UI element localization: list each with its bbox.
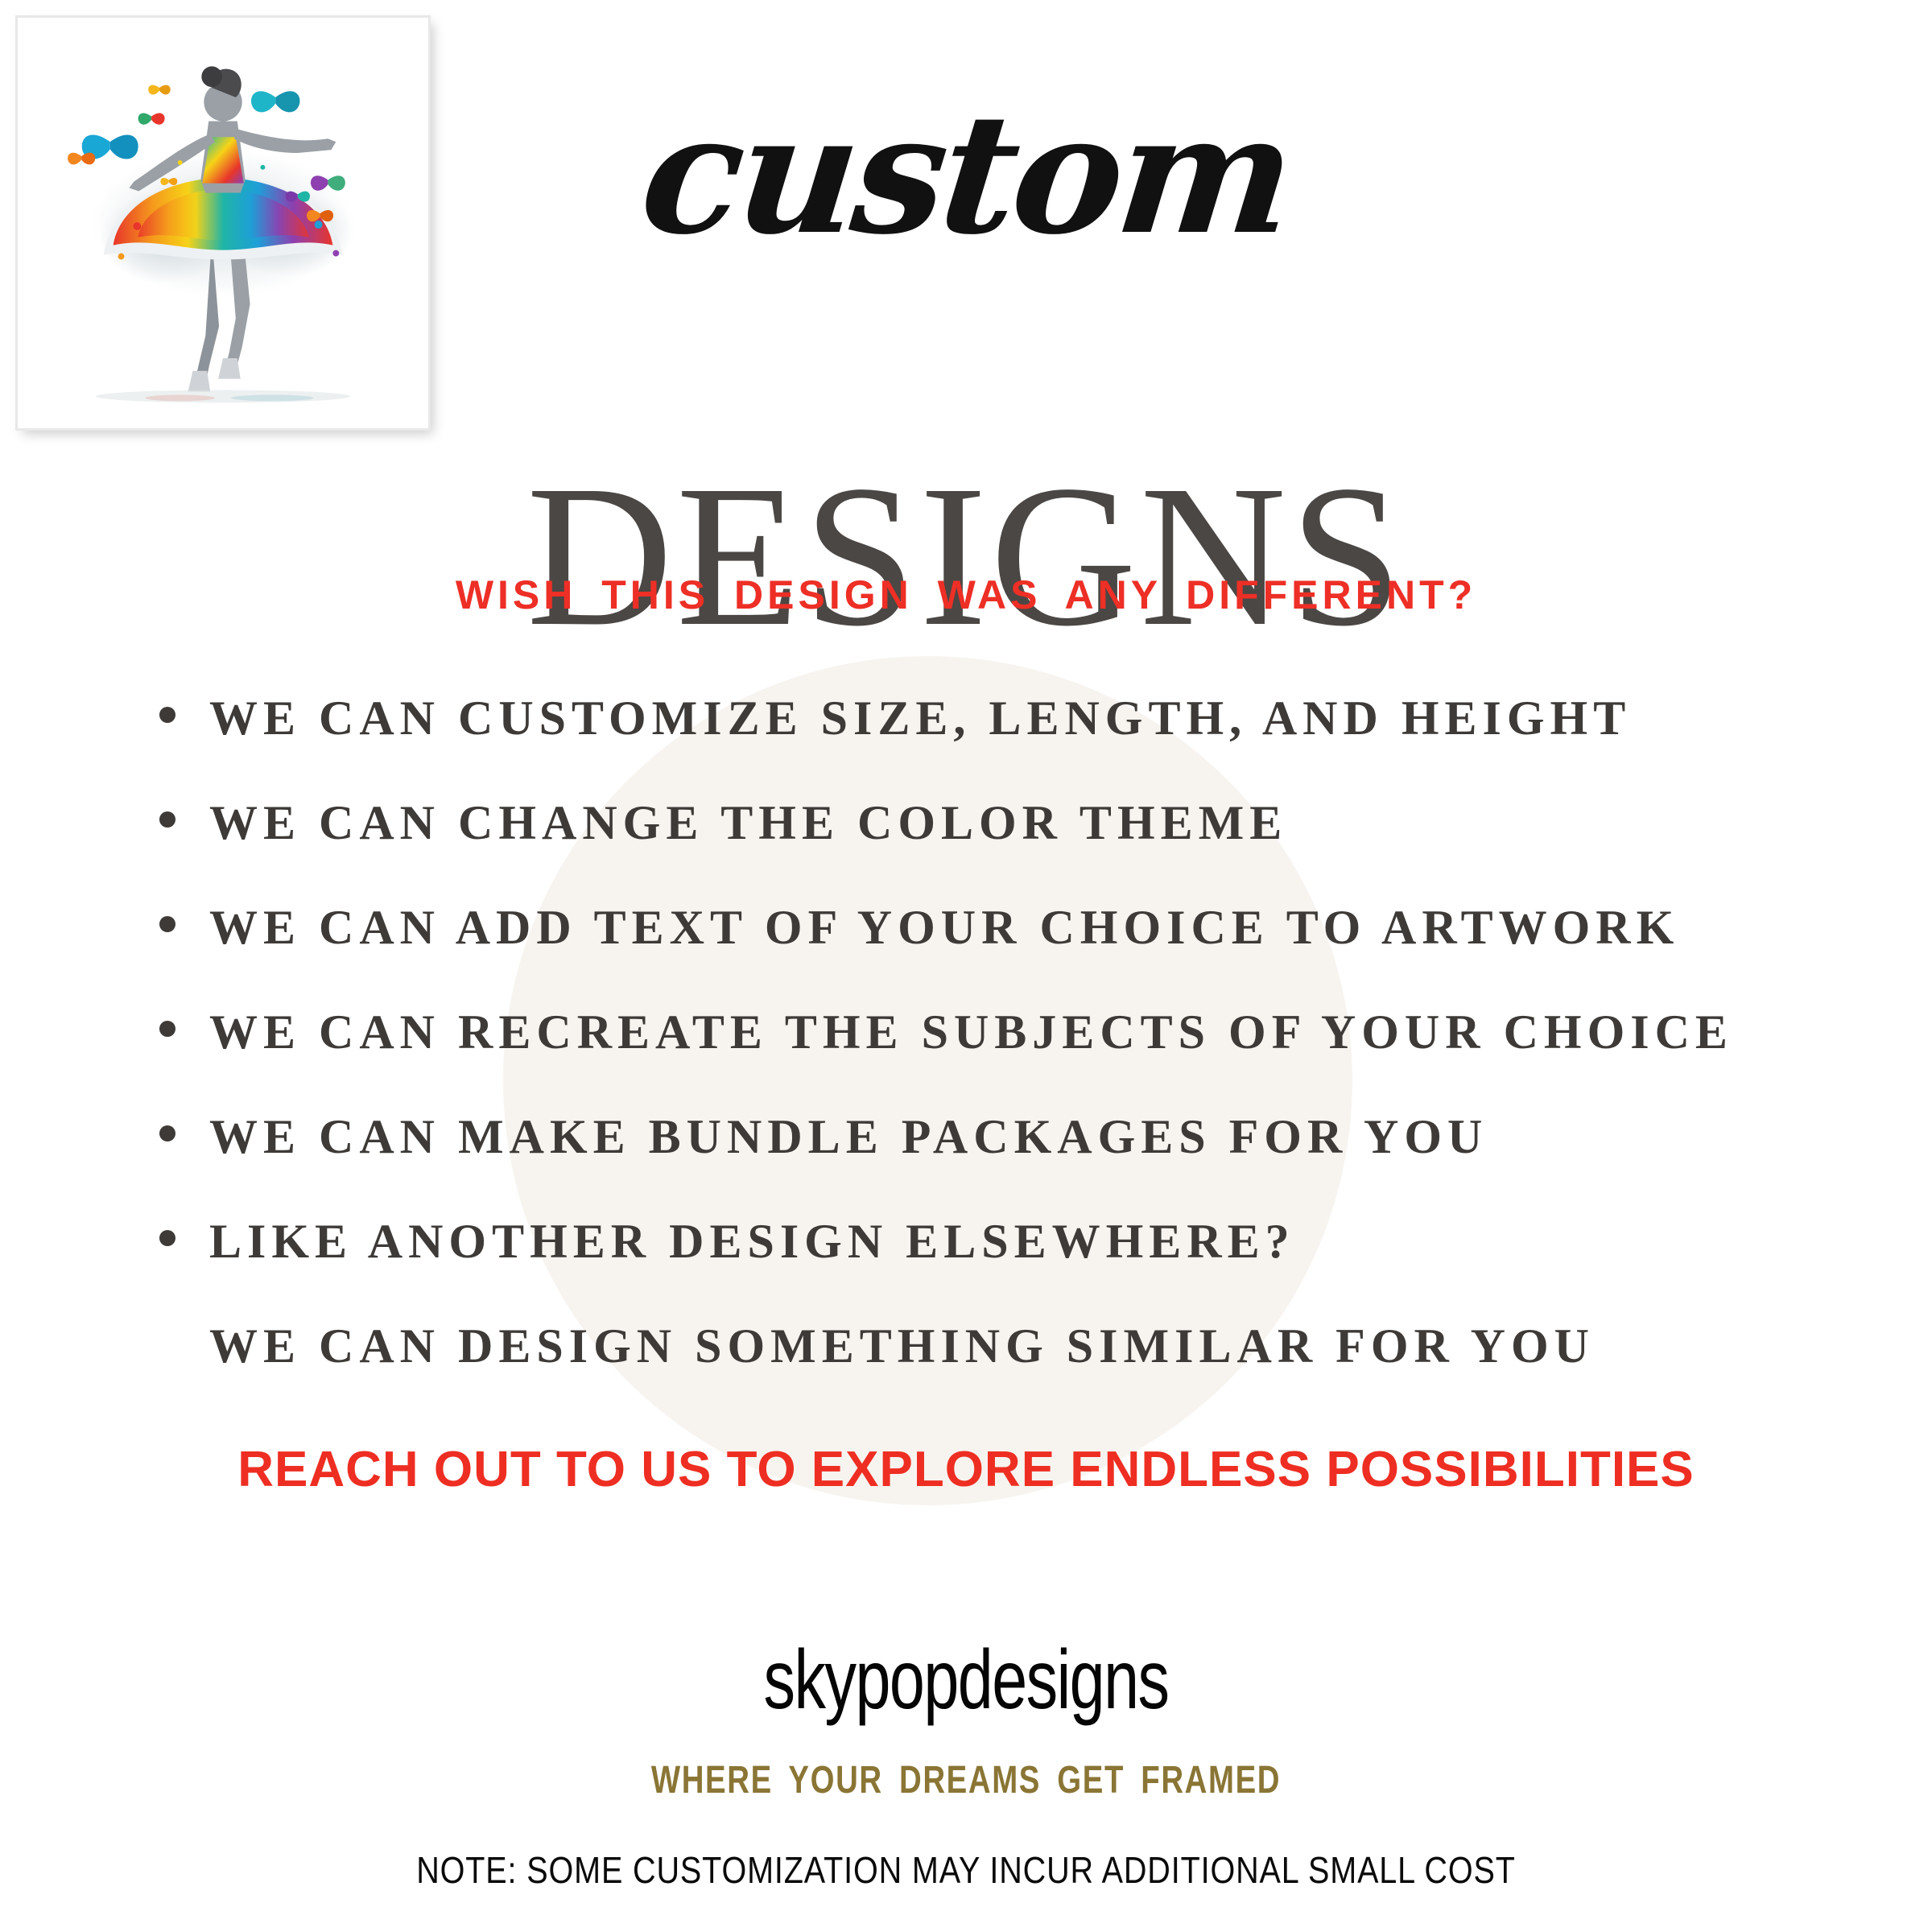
list-item-label: WE CAN CUSTOMIZE SIZE, LENGTH, AND HEIGH… (209, 694, 1631, 742)
bullet-dot-icon (159, 916, 175, 932)
bullet-dot-icon (159, 1125, 175, 1141)
list-item-label: WE CAN ADD TEXT OF YOUR CHOICE TO ARTWOR… (209, 903, 1679, 952)
list-item-continuation: WE CAN DESIGN SOMETHING SIMILAR FOR YOU (0, 1322, 1932, 1426)
artwork-thumbnail-image (24, 24, 422, 422)
list-item: WE CAN CUSTOMIZE SIZE, LENGTH, AND HEIGH… (0, 694, 1932, 799)
call-to-action-text[interactable]: REACH OUT TO US TO EXPLORE ENDLESS POSSI… (0, 1440, 1932, 1500)
list-item-label: WE CAN CHANGE THE COLOR THEME (209, 799, 1287, 847)
list-item: WE CAN ADD TEXT OF YOUR CHOICE TO ARTWOR… (0, 903, 1932, 1008)
bullet-dot-icon (159, 707, 175, 723)
list-item: WE CAN MAKE BUNDLE PACKAGES FOR YOU (0, 1113, 1932, 1217)
brand-tagline: WHERE YOUR DREAMS GET FRAMED (193, 1761, 1739, 1800)
list-item-continuation-label: WE CAN DESIGN SOMETHING SIMILAR FOR YOU (209, 1322, 1595, 1370)
bullet-dot-icon (159, 1230, 175, 1246)
brand-logo-wordmark: skypopdesigns (232, 1638, 1700, 1722)
list-item: WE CAN RECREATE THE SUBJECTS OF YOUR CHO… (0, 1008, 1932, 1113)
page-title: DESIGNS (0, 454, 1932, 657)
bullet-dot-icon (159, 811, 175, 828)
list-item-label: WE CAN RECREATE THE SUBJECTS OF YOUR CHO… (209, 1008, 1733, 1056)
list-item-label: WE CAN MAKE BUNDLE PACKAGES FOR YOU (209, 1113, 1488, 1161)
list-item: LIKE ANOTHER DESIGN ELSEWHERE? (0, 1217, 1932, 1322)
artwork-thumbnail[interactable] (18, 18, 428, 428)
feature-list: WE CAN CUSTOMIZE SIZE, LENGTH, AND HEIGH… (0, 694, 1932, 1426)
bullet-dot-icon (159, 1021, 175, 1037)
disclaimer-note: NOTE: SOME CUSTOMIZATION MAY INCUR ADDIT… (135, 1851, 1797, 1889)
ballerina-artwork-illustration (24, 24, 422, 422)
list-item-label: LIKE ANOTHER DESIGN ELSEWHERE? (209, 1217, 1295, 1265)
subtitle-question: WISH THIS DESIGN WAS ANY DIFFERENT? (0, 571, 1932, 619)
list-item: WE CAN CHANGE THE COLOR THEME (0, 799, 1932, 903)
